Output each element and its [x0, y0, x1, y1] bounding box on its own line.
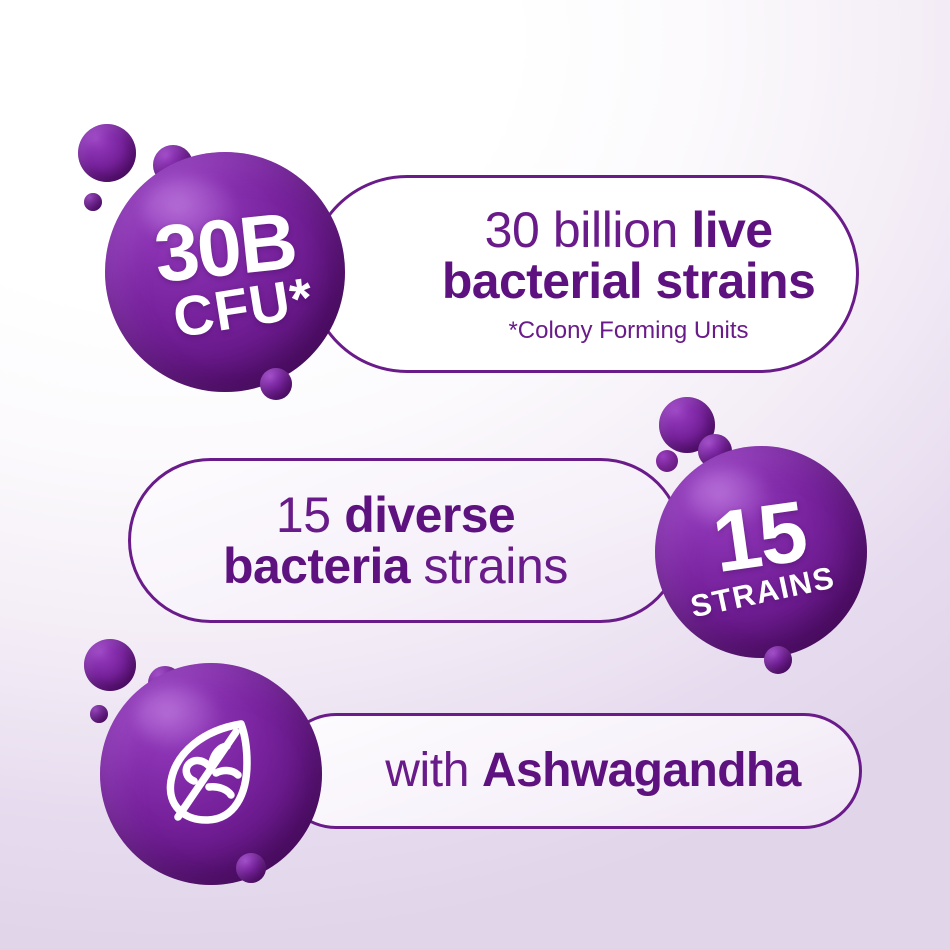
pill-connector-dot	[656, 450, 678, 472]
cfu-headline-bold: live	[691, 202, 772, 258]
ashwagandha-bold: Ashwagandha	[482, 744, 801, 797]
accent-bubble-bottom-2	[764, 646, 792, 674]
accent-bubble-large-3	[84, 639, 136, 691]
feature-pill-strains-text: 15 diverse bacteria strains	[131, 490, 680, 592]
cfu-headline-line2: bacterial strains	[311, 256, 856, 307]
accent-bubble-tiny-3	[90, 705, 108, 723]
feature-pill-ashwagandha-text: with Ashwagandha	[281, 747, 859, 796]
strains-headline-line1: 15 diverse	[131, 490, 680, 541]
badge-bubble-cfu-label: 30B CFU*	[151, 206, 304, 342]
ashwagandha-headline: with Ashwagandha	[281, 747, 859, 796]
cfu-badge-value: 30B	[151, 206, 298, 291]
infographic-canvas: 30 billion live bacterial strains *Colon…	[0, 0, 950, 950]
badge-bubble-ashwagandha	[100, 663, 322, 885]
feature-pill-strains: 15 diverse bacteria strains	[128, 458, 683, 623]
badge-bubble-cfu: 30B CFU*	[105, 152, 345, 392]
strains-line1-thin: 15	[276, 487, 344, 543]
feature-pill-cfu: 30 billion live bacterial strains *Colon…	[308, 175, 859, 373]
cfu-headline-thin: 30 billion	[485, 202, 692, 258]
strains-line2-thin: strains	[410, 538, 568, 594]
cfu-headline-line1: 30 billion live	[311, 205, 856, 256]
strains-line2-bold: bacteria	[223, 538, 410, 594]
strains-badge-unit: STRAINS	[688, 563, 837, 620]
accent-bubble-tiny-1	[84, 193, 102, 211]
ashwagandha-thin: with	[385, 744, 482, 797]
feature-pill-ashwagandha: with Ashwagandha	[278, 713, 862, 829]
cfu-badge-unit: CFU*	[169, 273, 316, 344]
strains-badge-value: 15	[681, 490, 837, 585]
badge-bubble-strains-label: 15 STRAINS	[681, 490, 841, 614]
strains-line1-bold: diverse	[344, 487, 515, 543]
cfu-footnote: *Colony Forming Units	[311, 319, 856, 343]
badge-bubble-strains: 15 STRAINS	[655, 446, 867, 658]
accent-bubble-bottom-3	[236, 853, 266, 883]
accent-bubble-bottom-1	[260, 368, 292, 400]
cfu-headline-line2-bold: bacterial strains	[442, 253, 815, 309]
leaf-icon	[148, 711, 274, 837]
accent-bubble-large-1	[78, 124, 136, 182]
feature-pill-cfu-text: 30 billion live bacterial strains *Colon…	[311, 205, 856, 343]
strains-headline-line2: bacteria strains	[131, 541, 680, 592]
